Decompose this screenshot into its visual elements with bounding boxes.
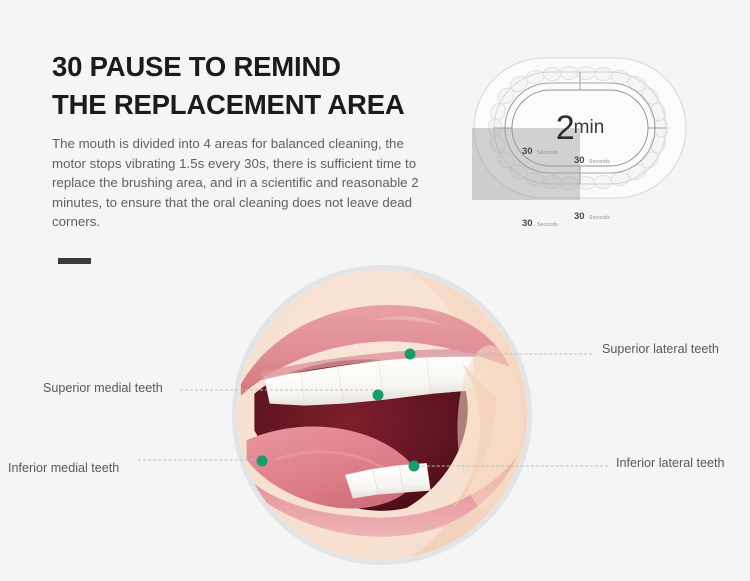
timer-diagram-graphic (472, 56, 688, 200)
leader-line-inferior-medial (138, 460, 258, 461)
quadrant-label-bottom-right: 30 Seconds (574, 206, 610, 224)
quadrant-value-bottom-left: 30 (522, 218, 533, 229)
active-quadrant-shading (472, 128, 580, 200)
quadrant-label-top-left: 30 Seconds (522, 141, 558, 159)
marker-superior-medial[interactable] (373, 390, 384, 401)
leader-line-superior-lateral (420, 354, 592, 355)
marker-inferior-lateral[interactable] (409, 461, 420, 472)
annotation-inferior-medial: Inferior medial teeth (8, 461, 119, 475)
quadrant-value-top-left: 30 (522, 146, 533, 157)
quadrant-label-top-right: 30 Seconds (574, 150, 610, 168)
headline-line-1: 30 PAUSE TO REMIND (52, 48, 452, 86)
section-divider (58, 258, 91, 264)
annotation-superior-medial: Superior medial teeth (43, 381, 163, 395)
quadrant-unit-top-left: Seconds (537, 150, 558, 156)
quadrant-unit-bottom-left: Seconds (537, 222, 558, 228)
mouth-photo (232, 265, 532, 565)
mouth-illustration (237, 270, 527, 560)
marker-superior-lateral[interactable] (405, 349, 416, 360)
quadrant-value-top-right: 30 (574, 155, 585, 166)
quadrant-value-bottom-right: 30 (574, 211, 585, 222)
marker-inferior-medial[interactable] (257, 456, 268, 467)
annotation-inferior-lateral: Inferior lateral teeth (616, 456, 725, 470)
headline-block: 30 PAUSE TO REMIND THE REPLACEMENT AREA (52, 48, 452, 124)
leader-line-inferior-lateral (412, 466, 608, 467)
quadrant-unit-bottom-right: Seconds (589, 215, 610, 221)
quadrant-label-bottom-left: 30 Seconds (522, 213, 558, 231)
headline-line-2: THE REPLACEMENT AREA (52, 86, 452, 124)
quadrant-unit-top-right: Seconds (589, 159, 610, 165)
annotation-superior-lateral: Superior lateral teeth (602, 342, 719, 356)
timer-diagram: 2min 30 Seconds 30 Seconds 30 Seconds 30… (472, 56, 688, 200)
leader-line-superior-medial (180, 390, 378, 391)
description-paragraph: The mouth is divided into 4 areas for ba… (52, 134, 437, 232)
